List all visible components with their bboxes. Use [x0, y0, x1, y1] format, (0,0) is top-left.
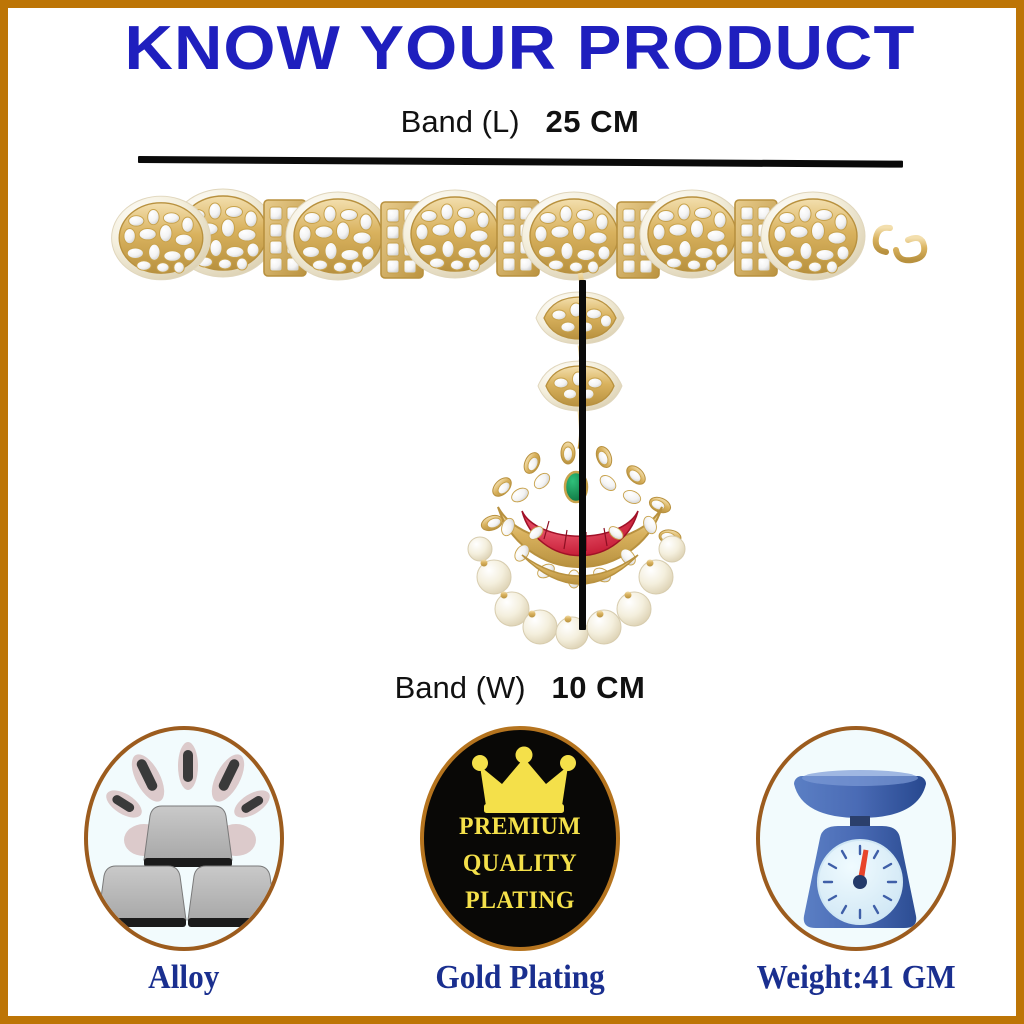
clasp-hook-right	[876, 228, 925, 261]
band-length-value: 25 CM	[546, 104, 640, 139]
gold-plating-label: Gold Plating	[435, 959, 604, 997]
alloy-label: Alloy	[148, 959, 219, 997]
product-image-matha-patti	[8, 168, 1024, 668]
alloy-badge	[84, 726, 284, 951]
feature-weight: Weight:41 GM	[706, 726, 1006, 997]
band-length-label: Band (L)	[401, 104, 520, 139]
band-length-caption: Band (L)25 CM	[8, 104, 1024, 140]
feature-row: Alloy PREMIUM QUALITY PLATING Gold Plati…	[16, 726, 1024, 1016]
badge-line-premium: PREMIUM	[429, 808, 611, 845]
band-width-value: 10 CM	[552, 670, 646, 705]
band-segments	[112, 189, 865, 280]
badge-line-plating: PLATING	[429, 882, 611, 919]
feature-alloy: Alloy	[34, 726, 334, 997]
width-measure-line	[579, 280, 586, 630]
kitchen-scale-icon	[760, 730, 956, 951]
badge-line-quality: QUALITY	[429, 845, 611, 882]
feature-gold-plating: PREMIUM QUALITY PLATING Gold Plating	[370, 726, 670, 997]
band-width-caption: Band (W)10 CM	[8, 670, 1024, 706]
pendant-head	[468, 442, 685, 649]
gold-plating-badge: PREMIUM QUALITY PLATING	[420, 726, 620, 951]
weight-badge	[756, 726, 956, 951]
page-title: KNOW YOUR PRODUCT	[0, 16, 1024, 82]
band-width-label: Band (W)	[395, 670, 526, 705]
metal-ingots-icon	[88, 730, 284, 951]
weight-label: Weight:41 GM	[757, 959, 956, 997]
product-infographic-page: KNOW YOUR PRODUCT Band (L)25 CM	[0, 0, 1024, 1024]
gold-plating-badge-text: PREMIUM QUALITY PLATING	[424, 808, 616, 919]
length-measure-line	[138, 156, 903, 168]
